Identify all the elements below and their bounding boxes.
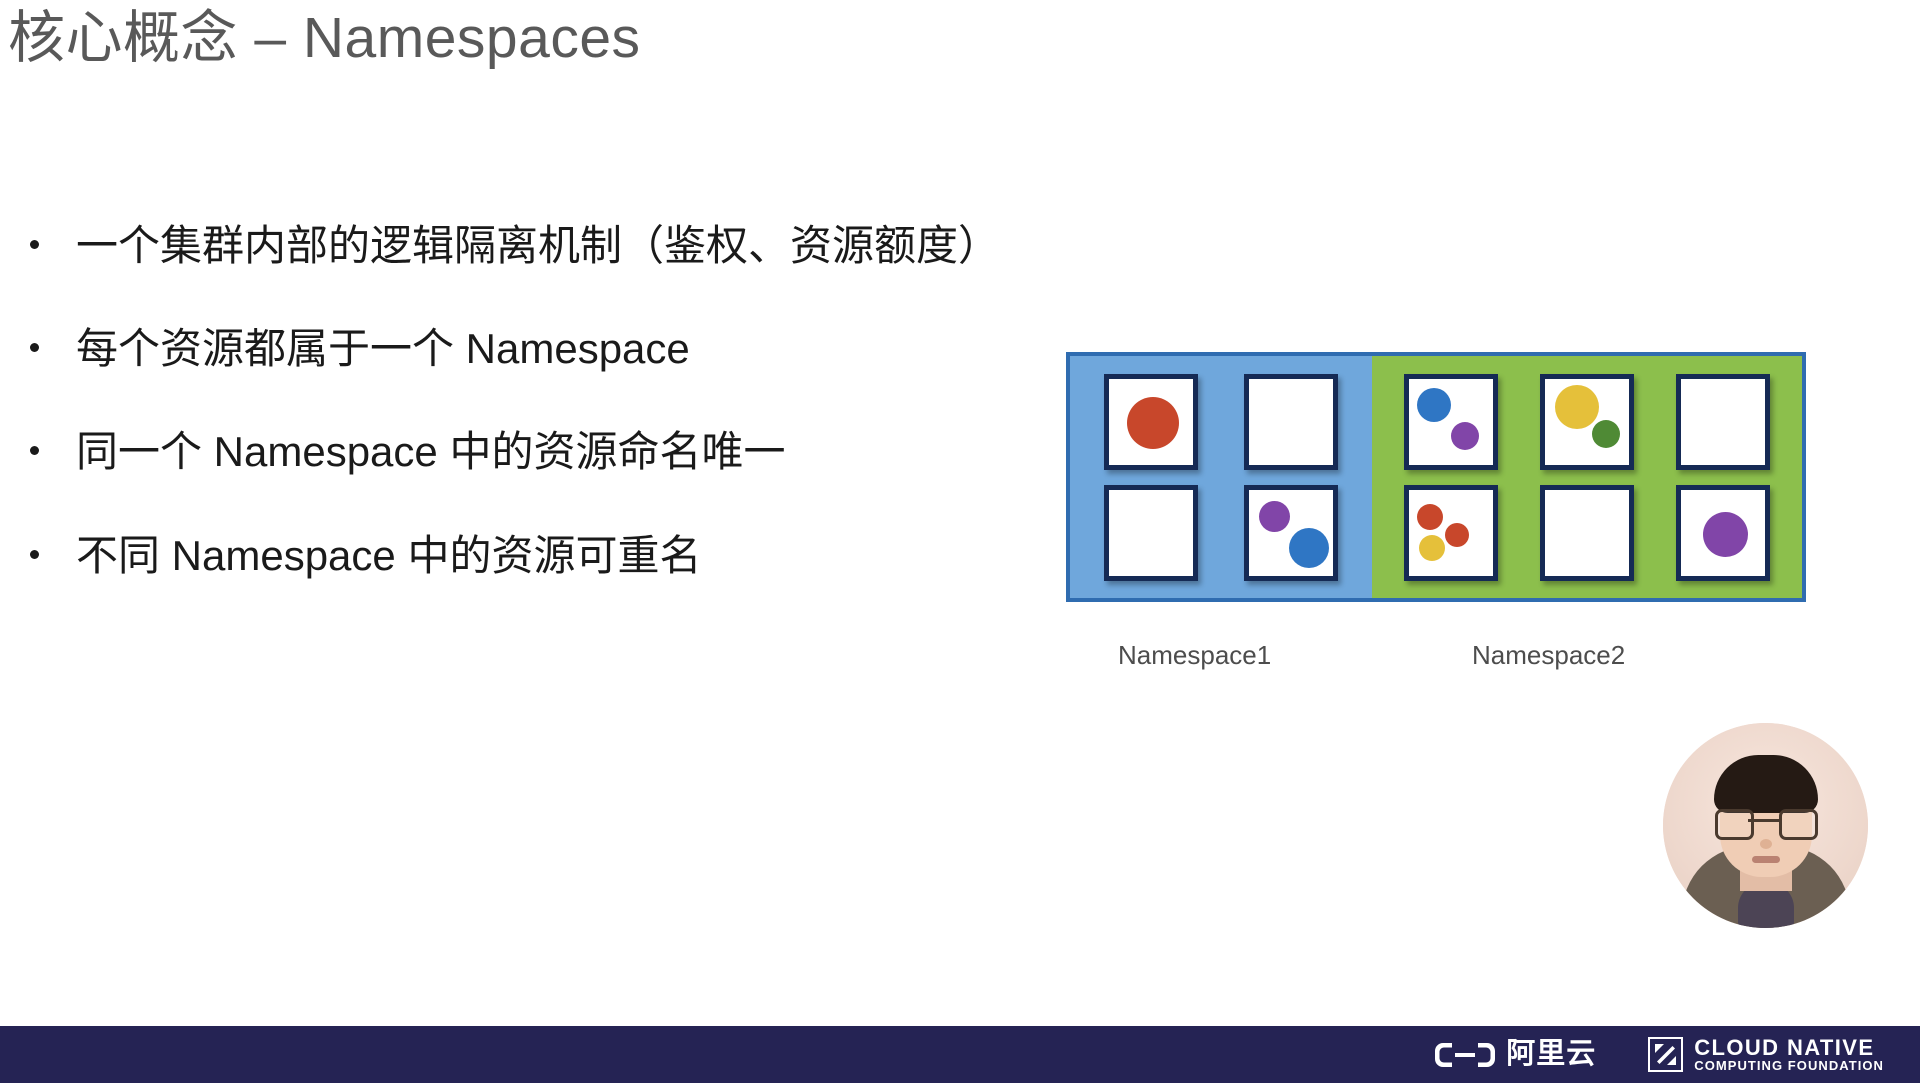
- page-title: 核心概念 – Namespaces: [8, 6, 641, 72]
- namespace1-caption: Namespace1: [1118, 640, 1271, 671]
- resource-dot-icon: [1417, 504, 1443, 530]
- glasses-lens-right-icon: [1779, 809, 1818, 840]
- bullet-dot-icon: [30, 240, 39, 249]
- resource-dot-icon: [1703, 512, 1748, 557]
- cncf-logo: CLOUD NATIVE COMPUTING FOUNDATION: [1648, 1037, 1884, 1073]
- aliyun-logo-text: 阿里云: [1506, 1040, 1596, 1069]
- footer-bar: 阿里云 CLOUD NATIVE COMPUTING FOUNDATION: [0, 1026, 1920, 1083]
- glasses-lens-left-icon: [1715, 809, 1754, 840]
- cncf-logo-line1: CLOUD NATIVE: [1694, 1037, 1884, 1059]
- cncf-logo-text: CLOUD NATIVE COMPUTING FOUNDATION: [1694, 1037, 1884, 1073]
- aliyun-logo: 阿里云: [1434, 1040, 1596, 1070]
- glasses-bridge-icon: [1748, 819, 1779, 822]
- resource-cell: [1540, 374, 1634, 470]
- resource-dot-icon: [1289, 528, 1329, 568]
- list-item: 不同 Namespace 中的资源可重名: [14, 530, 1074, 581]
- resource-dot-icon: [1259, 501, 1290, 532]
- bullet-list: 一个集群内部的逻辑隔离机制（鉴权、资源额度） 每个资源都属于一个 Namespa…: [14, 220, 1074, 581]
- presentation-slide: 核心概念 – Namespaces 一个集群内部的逻辑隔离机制（鉴权、资源额度）…: [0, 0, 1920, 1083]
- resource-dot-icon: [1451, 422, 1479, 450]
- resource-dot-icon: [1555, 385, 1599, 429]
- cncf-logo-icon: [1648, 1037, 1683, 1072]
- list-item-label: 同一个 Namespace 中的资源命名唯一: [76, 428, 785, 475]
- aliyun-logo-icon: [1434, 1040, 1496, 1070]
- resource-cell: [1404, 485, 1498, 581]
- presenter-nose: [1760, 839, 1772, 849]
- resource-cell: [1676, 485, 1770, 581]
- presenter-mouth: [1752, 856, 1780, 863]
- list-item-label: 每个资源都属于一个 Namespace: [76, 325, 690, 372]
- list-item: 每个资源都属于一个 Namespace: [14, 323, 1074, 374]
- presenter-webcam: [1663, 723, 1868, 928]
- cncf-logo-line2: COMPUTING FOUNDATION: [1694, 1059, 1884, 1072]
- list-item: 一个集群内部的逻辑隔离机制（鉴权、资源额度）: [14, 220, 1074, 271]
- list-item-label: 不同 Namespace 中的资源可重名: [76, 532, 701, 579]
- resource-dot-icon: [1445, 523, 1469, 547]
- bullet-dot-icon: [30, 550, 39, 559]
- resource-dot-icon: [1592, 420, 1620, 448]
- namespace-panels: [1066, 352, 1806, 602]
- resource-dot-icon: [1417, 388, 1451, 422]
- resource-cell: [1104, 374, 1198, 470]
- namespace-panel-2: [1372, 356, 1802, 598]
- resource-cell: [1244, 485, 1338, 581]
- list-item-label: 一个集群内部的逻辑隔离机制（鉴权、资源额度）: [76, 222, 1000, 269]
- resource-cell: [1244, 374, 1338, 470]
- namespace-panel-1: [1070, 356, 1372, 598]
- resource-cell: [1404, 374, 1498, 470]
- resource-dot-icon: [1127, 397, 1179, 449]
- resource-cell: [1676, 374, 1770, 470]
- resource-cell: [1540, 485, 1634, 581]
- resource-dot-icon: [1419, 535, 1445, 561]
- namespace-diagram: [1066, 352, 1806, 602]
- resource-cell: [1104, 485, 1198, 581]
- bullet-dot-icon: [30, 446, 39, 455]
- namespace2-caption: Namespace2: [1472, 640, 1625, 671]
- list-item: 同一个 Namespace 中的资源命名唯一: [14, 426, 1074, 477]
- bullet-dot-icon: [30, 343, 39, 352]
